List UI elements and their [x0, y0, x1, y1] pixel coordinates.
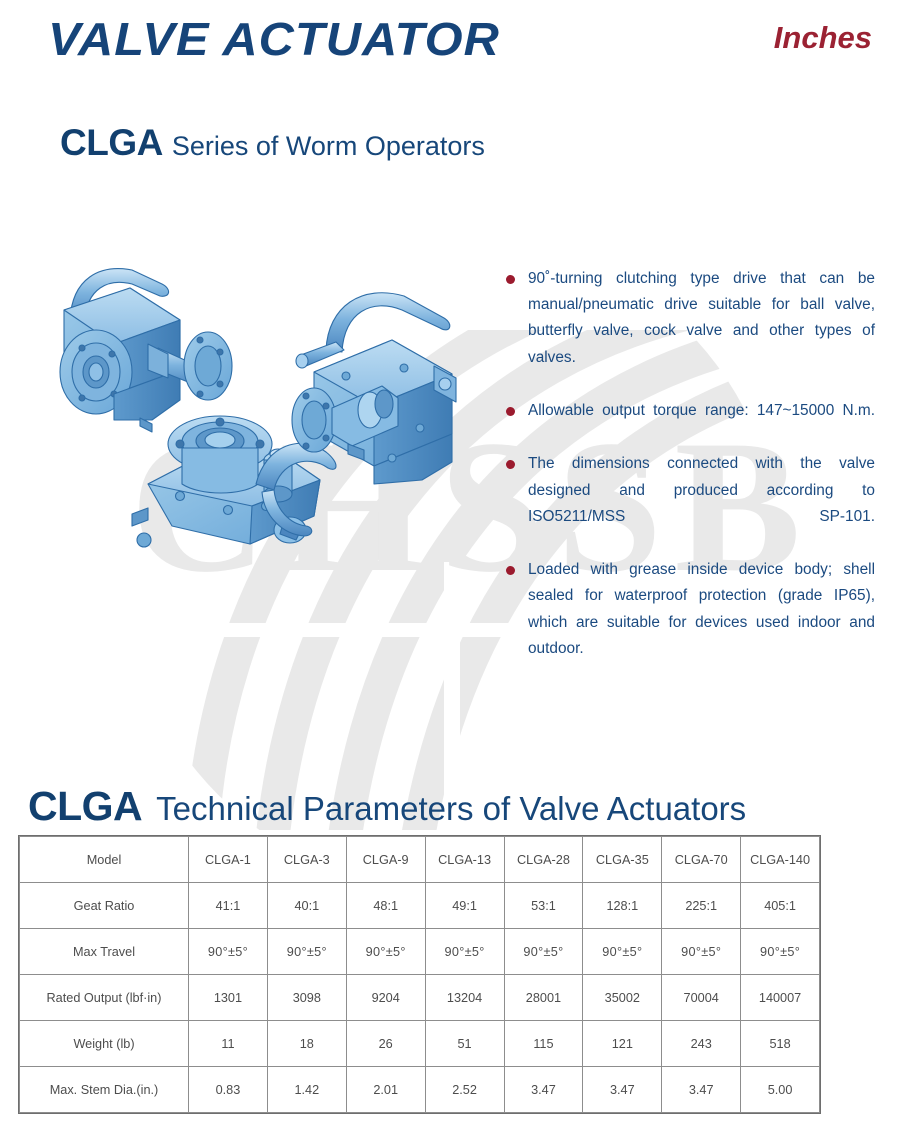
table-cell: 18: [267, 1021, 346, 1067]
table-cell: 90°±5°: [189, 929, 268, 975]
table-cell: 11: [189, 1021, 268, 1067]
table-cell: 518: [741, 1021, 820, 1067]
table-cell: 405:1: [741, 883, 820, 929]
table-cell: 90°±5°: [662, 929, 741, 975]
series-description: Series of Worm Operators: [172, 131, 485, 161]
table-cell: 128:1: [583, 883, 662, 929]
table-cell: 28001: [504, 975, 583, 1021]
table-cell: 51: [425, 1021, 504, 1067]
feature-text: Loaded with grease inside device body; s…: [528, 557, 875, 688]
table-row: Weight (lb) 11 18 26 51 115 121 243 518: [20, 1021, 820, 1067]
table-row: Model CLGA-1 CLGA-3 CLGA-9 CLGA-13 CLGA-…: [20, 837, 820, 883]
table-cell: 90°±5°: [425, 929, 504, 975]
table-cell: CLGA-3: [267, 837, 346, 883]
table-cell: 9204: [346, 975, 425, 1021]
row-label: Max. Stem Dia.(in.): [20, 1067, 189, 1113]
feature-item: The dimensions connected with the valve …: [503, 451, 875, 556]
table-cell: CLGA-70: [662, 837, 741, 883]
feature-text: The dimensions connected with the valve …: [528, 451, 875, 556]
table-cell: 90°±5°: [267, 929, 346, 975]
table-cell: 121: [583, 1021, 662, 1067]
table-cell: 1.42: [267, 1067, 346, 1113]
table-cell: 140007: [741, 975, 820, 1021]
table-cell: 48:1: [346, 883, 425, 929]
table-cell: 2.01: [346, 1067, 425, 1113]
page-title: VALVE ACTUATOR: [48, 12, 500, 66]
technical-parameters-table: Model CLGA-1 CLGA-3 CLGA-9 CLGA-13 CLGA-…: [19, 836, 820, 1113]
bullet-icon: [506, 460, 515, 469]
table-cell: 90°±5°: [583, 929, 662, 975]
bullet-icon: [506, 275, 515, 284]
table-cell: CLGA-9: [346, 837, 425, 883]
table-cell: 53:1: [504, 883, 583, 929]
table-cell: CLGA-140: [741, 837, 820, 883]
features-list: 90˚-turning clutching type drive that ca…: [503, 266, 875, 689]
actuator-left: [60, 269, 232, 432]
table-cell: 70004: [662, 975, 741, 1021]
series-heading: CLGASeries of Worm Operators: [60, 124, 485, 161]
feature-text: 90˚-turning clutching type drive that ca…: [528, 266, 875, 397]
table-title-text: Technical Parameters of Valve Actuators: [156, 790, 746, 827]
table-cell: 115: [504, 1021, 583, 1067]
table-cell: 40:1: [267, 883, 346, 929]
table-cell: 3098: [267, 975, 346, 1021]
bullet-icon: [506, 566, 515, 575]
table-cell: 35002: [583, 975, 662, 1021]
table-cell: 26: [346, 1021, 425, 1067]
table-cell: 2.52: [425, 1067, 504, 1113]
feature-item: Allowable output torque range: 147~15000…: [503, 398, 875, 450]
product-illustration: [52, 248, 482, 548]
row-label: Max Travel: [20, 929, 189, 975]
row-label: Weight (lb): [20, 1021, 189, 1067]
table-body: Model CLGA-1 CLGA-3 CLGA-9 CLGA-13 CLGA-…: [20, 837, 820, 1113]
table-cell: CLGA-1: [189, 837, 268, 883]
table-cell: 3.47: [583, 1067, 662, 1113]
table-cell: 49:1: [425, 883, 504, 929]
table-cell: 41:1: [189, 883, 268, 929]
table-row: Max. Stem Dia.(in.) 0.83 1.42 2.01 2.52 …: [20, 1067, 820, 1113]
table-cell: 90°±5°: [504, 929, 583, 975]
table-cell: 243: [662, 1021, 741, 1067]
table-cell: 225:1: [662, 883, 741, 929]
feature-item: Loaded with grease inside device body; s…: [503, 557, 875, 688]
table-heading: CLGATechnical Parameters of Valve Actuat…: [28, 786, 746, 827]
table-row: Rated Output (lbf·in) 1301 3098 9204 132…: [20, 975, 820, 1021]
table-cell: 90°±5°: [346, 929, 425, 975]
table-cell: 0.83: [189, 1067, 268, 1113]
table-cell: 3.47: [662, 1067, 741, 1113]
row-label: Rated Output (lbf·in): [20, 975, 189, 1021]
table-title-code: CLGA: [28, 783, 142, 829]
units-label: Inches: [774, 20, 872, 56]
bullet-icon: [506, 407, 515, 416]
table-cell: 1301: [189, 975, 268, 1021]
spec-table-container: Model CLGA-1 CLGA-3 CLGA-9 CLGA-13 CLGA-…: [19, 836, 819, 1113]
feature-item: 90˚-turning clutching type drive that ca…: [503, 266, 875, 397]
page-header: VALVE ACTUATOR Inches: [0, 0, 900, 78]
table-row: Max Travel 90°±5° 90°±5° 90°±5° 90°±5° 9…: [20, 929, 820, 975]
table-cell: CLGA-35: [583, 837, 662, 883]
table-row: Geat Ratio 41:1 40:1 48:1 49:1 53:1 128:…: [20, 883, 820, 929]
table-cell: 3.47: [504, 1067, 583, 1113]
table-cell: CLGA-28: [504, 837, 583, 883]
table-cell: 90°±5°: [741, 929, 820, 975]
row-label: Model: [20, 837, 189, 883]
table-cell: CLGA-13: [425, 837, 504, 883]
table-cell: 13204: [425, 975, 504, 1021]
series-code: CLGA: [60, 122, 163, 163]
row-label: Geat Ratio: [20, 883, 189, 929]
table-cell: 5.00: [741, 1067, 820, 1113]
feature-text: Allowable output torque range: 147~15000…: [528, 398, 875, 450]
